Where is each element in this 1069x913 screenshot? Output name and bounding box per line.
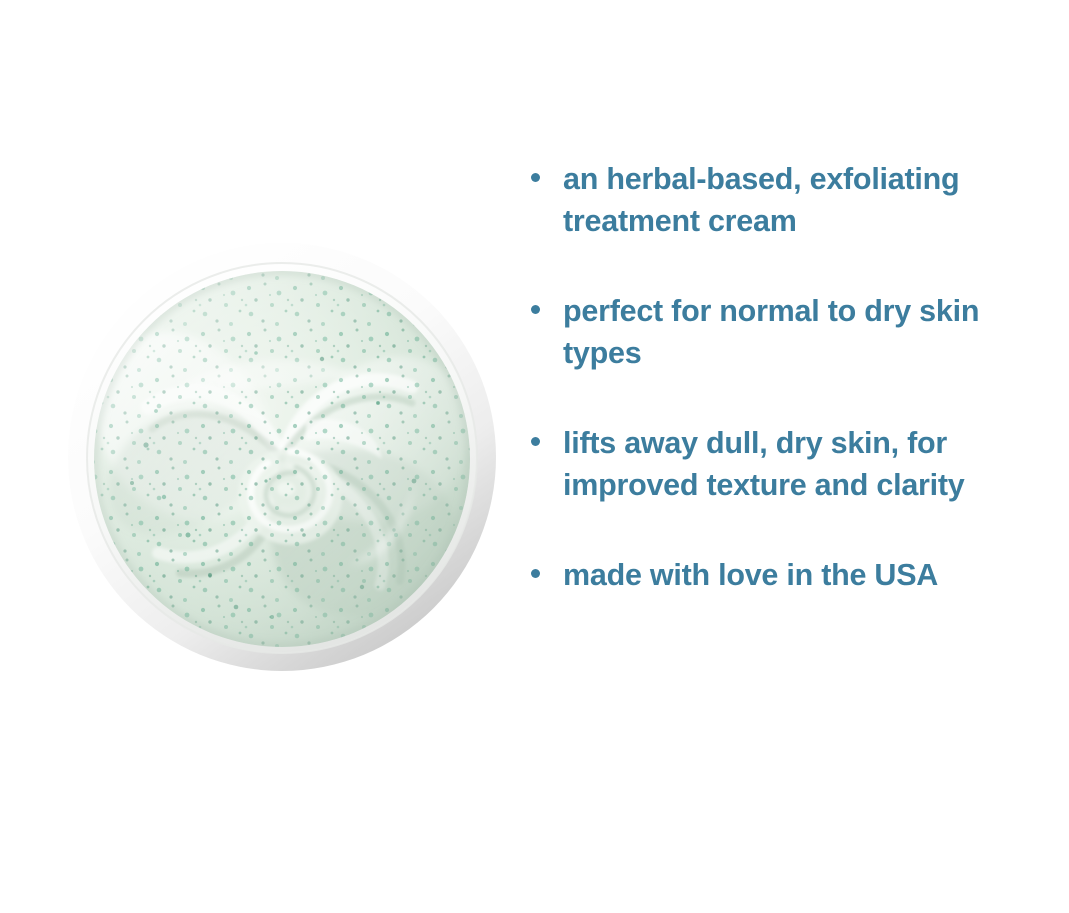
feature-text: an herbal-based, exfoliating treatment c… [563, 158, 1065, 242]
feature-text: made with love in the USA [563, 554, 1065, 596]
bullet-dot-icon [531, 173, 540, 182]
list-item: made with love in the USA [531, 554, 1065, 596]
feature-text: perfect for normal to dry skin types [563, 290, 1065, 374]
list-item: perfect for normal to dry skin types [531, 290, 1065, 374]
cream-surface [94, 271, 472, 647]
list-item: lifts away dull, dry skin, for improved … [531, 422, 1065, 506]
bullet-dot-icon [531, 569, 540, 578]
bullet-dot-icon [531, 437, 540, 446]
bullet-dot-icon [531, 305, 540, 314]
feature-text: lifts away dull, dry skin, for improved … [563, 422, 1065, 506]
list-item: an herbal-based, exfoliating treatment c… [531, 158, 1065, 242]
product-feature-panel: an herbal-based, exfoliating treatment c… [0, 0, 1069, 913]
product-image-cream-jar [60, 235, 505, 681]
feature-bullet-list: an herbal-based, exfoliating treatment c… [531, 158, 1065, 597]
